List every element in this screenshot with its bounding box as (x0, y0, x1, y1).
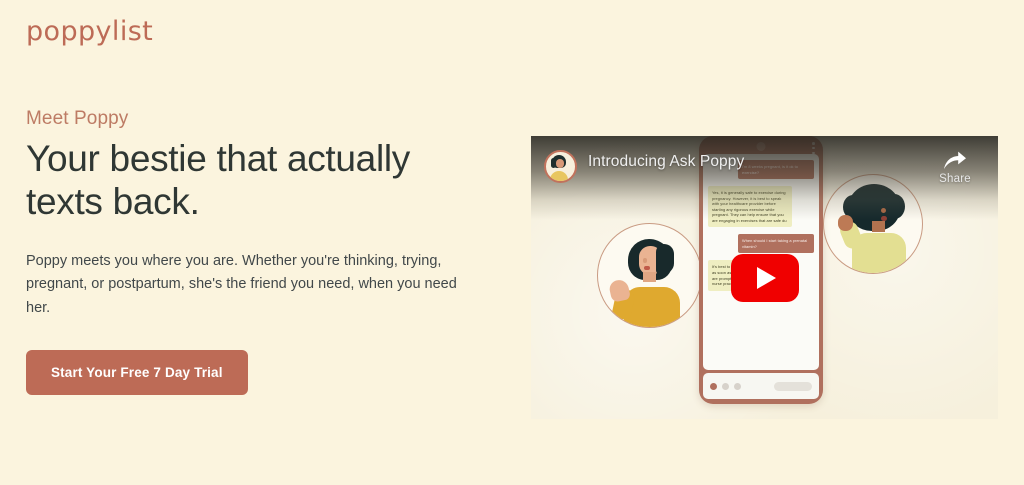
poppylist-logo[interactable]: poppylist (26, 16, 153, 47)
hero-eyebrow: Meet Poppy (26, 108, 496, 130)
neck-shape (643, 272, 656, 282)
channel-avatar-icon[interactable] (544, 150, 577, 183)
nav-dot (722, 383, 729, 390)
chat-input-bar (703, 373, 819, 399)
landing-page-hero: poppylist Meet Poppy Your bestie that ac… (0, 0, 1024, 485)
start-free-trial-button[interactable]: Start Your Free 7 Day Trial (26, 350, 248, 395)
mouth-shape (644, 266, 650, 270)
video-header: Introducing Ask Poppy Share (531, 136, 998, 198)
nav-dot-active (710, 383, 717, 390)
page-title: Your bestie that actually texts back. (26, 138, 476, 224)
chat-message-user: When should I start taking a prenatal vi… (738, 234, 814, 253)
share-arrow-icon (943, 151, 967, 170)
illustration-woman-waving (597, 223, 702, 328)
hair-side-shape (656, 244, 674, 274)
hero-subcopy: Poppy meets you where you are. Whether y… (26, 250, 474, 320)
video-title[interactable]: Introducing Ask Poppy (588, 153, 744, 171)
share-label: Share (926, 173, 984, 185)
video-player[interactable]: I'm 8 weeks pregnant, is it ok to exerci… (531, 136, 998, 419)
message-input-placeholder (774, 382, 812, 391)
neck-shape (872, 221, 885, 232)
nose-shape (643, 258, 647, 263)
share-button[interactable]: Share (926, 149, 984, 185)
play-triangle (757, 267, 776, 289)
hero-copy-column: Meet Poppy Your bestie that actually tex… (26, 108, 496, 395)
nav-dot (734, 383, 741, 390)
play-button-icon[interactable] (731, 254, 799, 302)
